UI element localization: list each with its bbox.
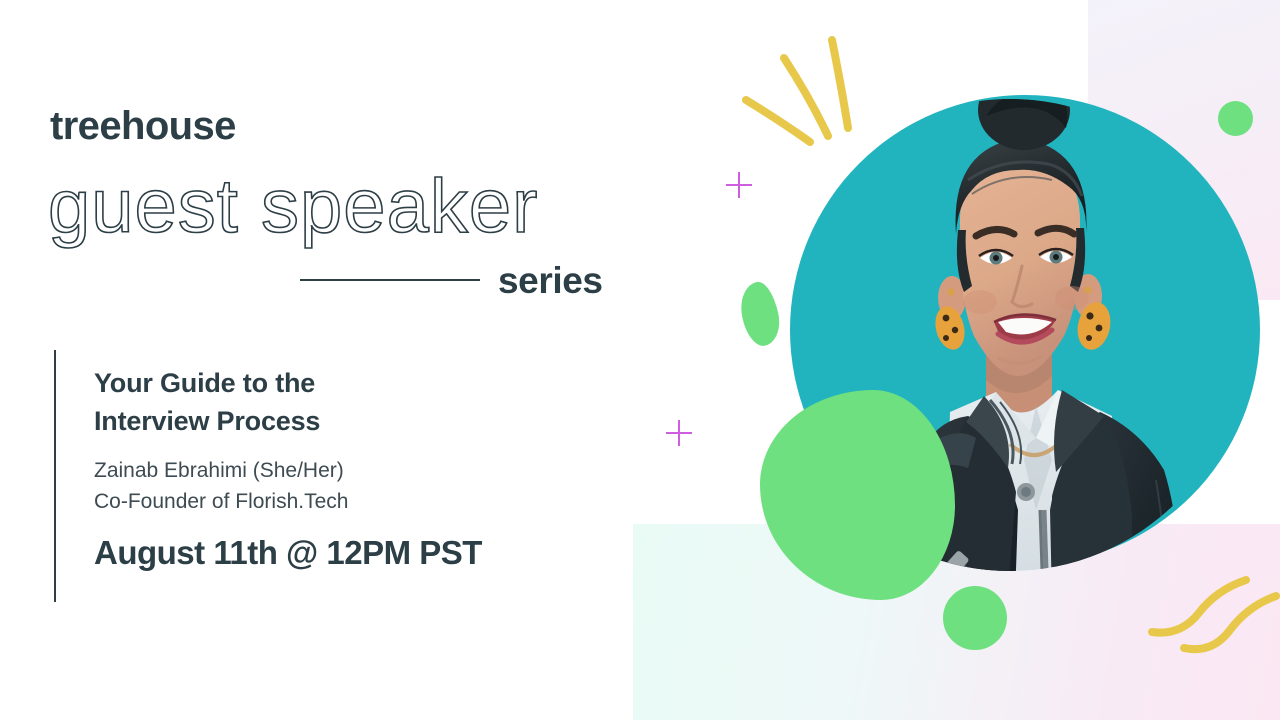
brand-wordmark: treehouse xyxy=(50,106,236,146)
speaker-role: Co-Founder of Florish.Tech xyxy=(94,486,482,518)
headline-outline: guest speaker xyxy=(44,162,684,254)
green-dot-icon xyxy=(943,586,1007,650)
series-label: series xyxy=(498,262,603,299)
event-details: Your Guide to the Interview Process Zain… xyxy=(54,350,482,602)
promo-poster: treehouse guest speaker series Your Guid… xyxy=(0,0,1280,720)
series-divider xyxy=(300,279,480,281)
sparkle-strokes-icon xyxy=(740,30,900,170)
green-bean-shape xyxy=(736,279,785,349)
svg-text:guest speaker: guest speaker xyxy=(48,164,538,249)
speaker-name: Zainab Ebrahimi (She/Her) xyxy=(94,455,482,487)
speaker-info: Zainab Ebrahimi (She/Her) Co-Founder of … xyxy=(94,455,482,518)
talk-title: Your Guide to the Interview Process xyxy=(94,364,482,441)
event-datetime: August 11th @ 12PM PST xyxy=(94,534,482,572)
plus-mark-icon xyxy=(726,172,752,198)
plus-mark-icon xyxy=(666,420,692,446)
talk-title-line-1: Your Guide to the xyxy=(94,364,482,402)
series-row: series xyxy=(300,255,630,305)
talk-title-line-2: Interview Process xyxy=(94,402,482,440)
squiggle-strokes-icon xyxy=(1150,570,1280,680)
